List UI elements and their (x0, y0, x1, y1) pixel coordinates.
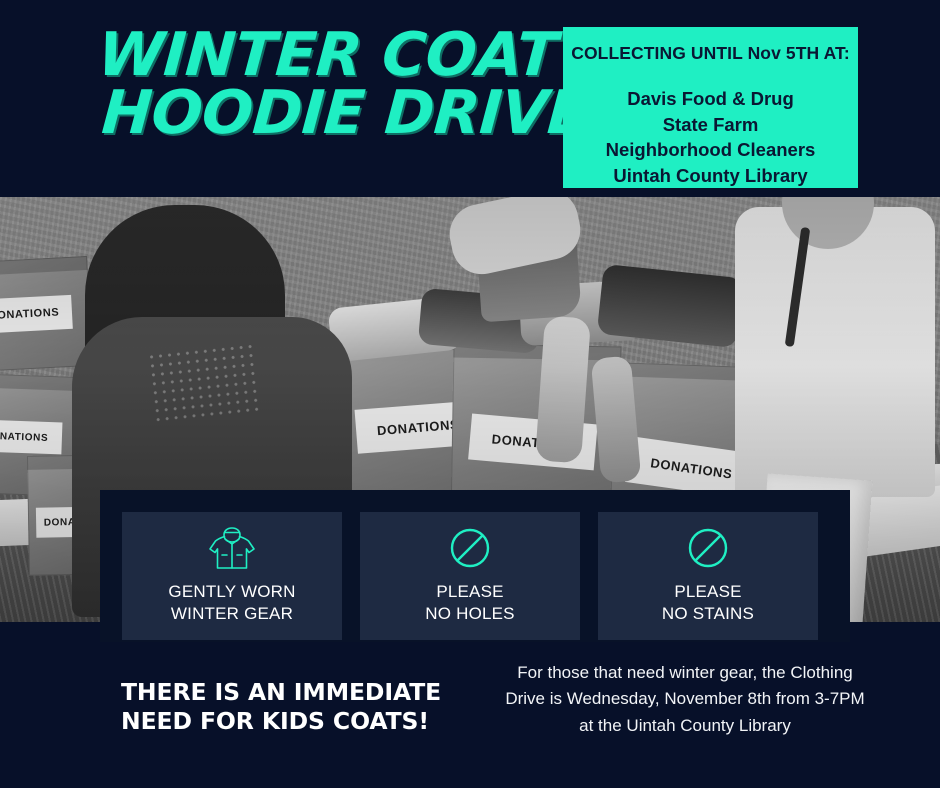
guideline-card-text: GENTLY WORN WINTER GEAR (168, 581, 295, 625)
clothing-drive-info: For those that need winter gear, the Clo… (500, 660, 870, 739)
guideline-card-no-stains: PLEASE NO STAINS (598, 512, 818, 640)
poster-footer: THERE IS AN IMMEDIATE NEED FOR KIDS COAT… (0, 622, 940, 788)
collecting-title: COLLECTING UNTIL Nov 5TH AT: (563, 43, 858, 64)
guideline-card-gently-worn: GENTLY WORN WINTER GEAR (122, 512, 342, 640)
location-item: Davis Food & Drug (563, 86, 858, 112)
hooded-jacket-icon (203, 525, 261, 571)
winter-coat-drive-poster: Winter Coat & Hoodie Drive COLLECTING UN… (0, 0, 940, 788)
guidelines-cards: GENTLY WORN WINTER GEAR PLEASE NO HOLES (122, 512, 818, 640)
collecting-location-list: Davis Food & Drug State Farm Neighborhoo… (563, 86, 858, 188)
no-holes-prohibition-icon (448, 525, 492, 571)
poster-title: Winter Coat & Hoodie Drive (92, 26, 570, 142)
location-item: Neighborhood Cleaners (563, 137, 858, 163)
need-line-1: THERE IS AN IMMEDIATE (121, 678, 451, 707)
poster-title-line-2: Hoodie Drive (100, 84, 566, 142)
immediate-need-message: THERE IS AN IMMEDIATE NEED FOR KIDS COAT… (121, 678, 451, 735)
need-line-2: NEED FOR KIDS COATS! (121, 707, 451, 736)
guideline-line-1: GENTLY WORN (168, 581, 295, 603)
guideline-line-1: PLEASE (662, 581, 754, 603)
poster-title-line-1: Winter Coat & (96, 26, 570, 84)
guideline-line-1: PLEASE (425, 581, 514, 603)
location-item: Uintah County Library (563, 163, 858, 189)
guideline-card-no-holes: PLEASE NO HOLES (360, 512, 580, 640)
guideline-card-text: PLEASE NO HOLES (425, 581, 514, 625)
collecting-locations-box: COLLECTING UNTIL Nov 5TH AT: Davis Food … (563, 27, 858, 188)
location-item: State Farm (563, 112, 858, 138)
poster-header: Winter Coat & Hoodie Drive COLLECTING UN… (0, 0, 940, 197)
guideline-card-text: PLEASE NO STAINS (662, 581, 754, 625)
no-stains-prohibition-icon (686, 525, 730, 571)
